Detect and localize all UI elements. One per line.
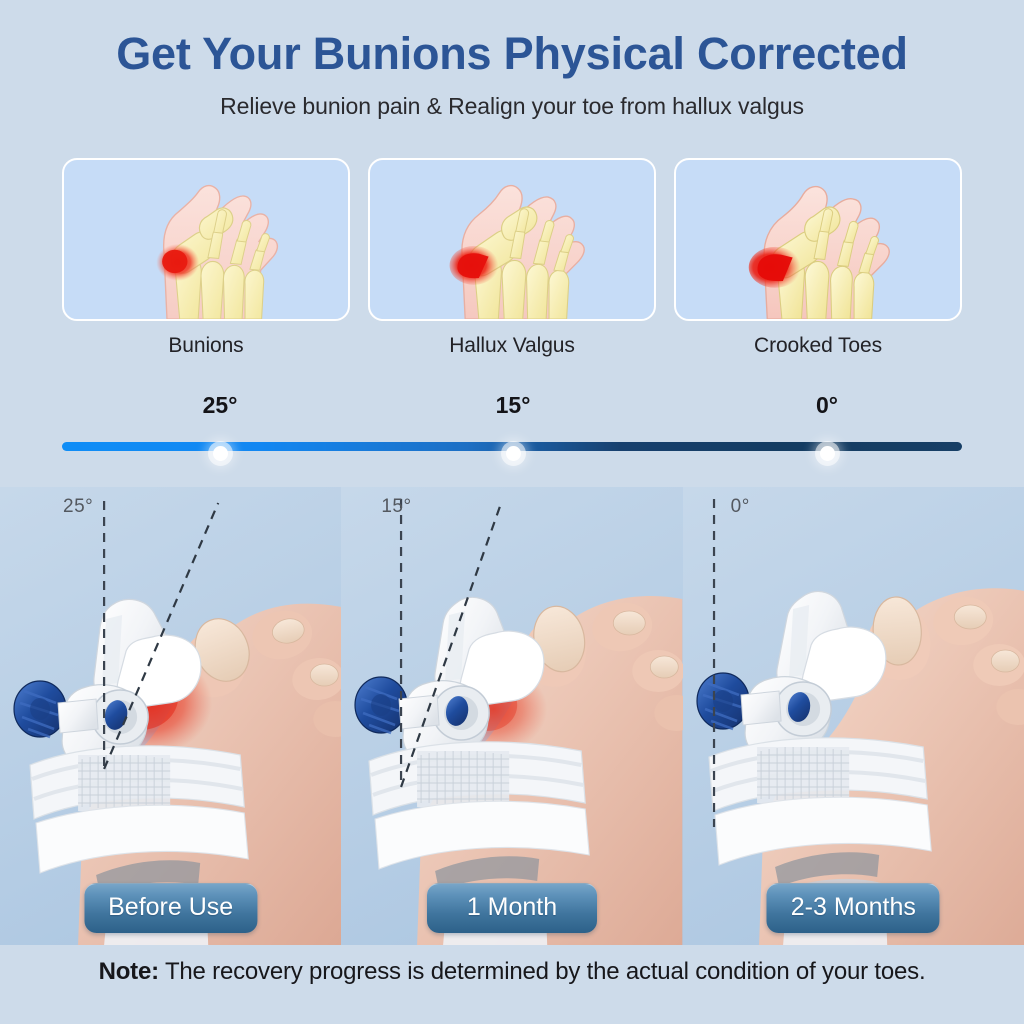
caption-2-3-months[interactable]: 2-3 Months [767, 883, 940, 933]
slider-knob-15[interactable] [506, 446, 521, 461]
angle-label: 25° [63, 496, 93, 518]
foot-with-bunion-corrector-brace-improved [341, 487, 682, 945]
angle-label: 0° [731, 496, 750, 518]
header: Get Your Bunions Physical Corrected Reli… [0, 30, 1024, 120]
note-prefix: Note: [99, 958, 159, 985]
foot-bones-hallux-valgus-illustration [370, 160, 654, 319]
condition-card-hallux-valgus[interactable]: Hallux Valgus [368, 158, 656, 358]
caption-1-month[interactable]: 1 Month [427, 883, 597, 933]
foot-bones-bunion-illustration [64, 160, 348, 319]
foot-bones-crooked-toes-illustration [676, 160, 960, 319]
condition-cards: Bunions [62, 158, 962, 358]
card-image-frame [674, 158, 962, 321]
timeline-panel-1-month: 15° 1 Month [341, 487, 682, 945]
card-image-frame [62, 158, 350, 321]
angle-label: 15° [381, 496, 411, 518]
slider-knob-25[interactable] [213, 446, 228, 461]
foot-with-bunion-corrector-brace-severe [0, 487, 341, 945]
card-label: Hallux Valgus [368, 334, 656, 358]
timeline-photos: 25° Before Use [0, 487, 1024, 945]
card-label: Bunions [62, 334, 350, 358]
card-image-frame [368, 158, 656, 321]
timeline-panel-2-3-months: 0° 2-3 Months [683, 487, 1024, 945]
progress-slider[interactable]: 25° 15° 0° [0, 392, 1024, 477]
page-title: Get Your Bunions Physical Corrected [0, 30, 1024, 79]
infographic-page: Get Your Bunions Physical Corrected Reli… [0, 0, 1024, 1024]
note-text: The recovery progress is determined by t… [159, 958, 926, 985]
page-subtitle: Relieve bunion pain & Realign your toe f… [0, 93, 1024, 120]
caption-before-use[interactable]: Before Use [84, 883, 257, 933]
card-label: Crooked Toes [674, 334, 962, 358]
condition-card-bunions[interactable]: Bunions [62, 158, 350, 358]
slider-label-15: 15° [496, 392, 531, 419]
slider-knob-0[interactable] [820, 446, 835, 461]
slider-label-0: 0° [816, 392, 838, 419]
note-line: Note: The recovery progress is determine… [0, 958, 1024, 986]
foot-with-bunion-corrector-brace-corrected [683, 487, 1024, 945]
slider-label-25: 25° [203, 392, 238, 419]
condition-card-crooked-toes[interactable]: Crooked Toes [674, 158, 962, 358]
timeline-panel-before-use: 25° Before Use [0, 487, 341, 945]
